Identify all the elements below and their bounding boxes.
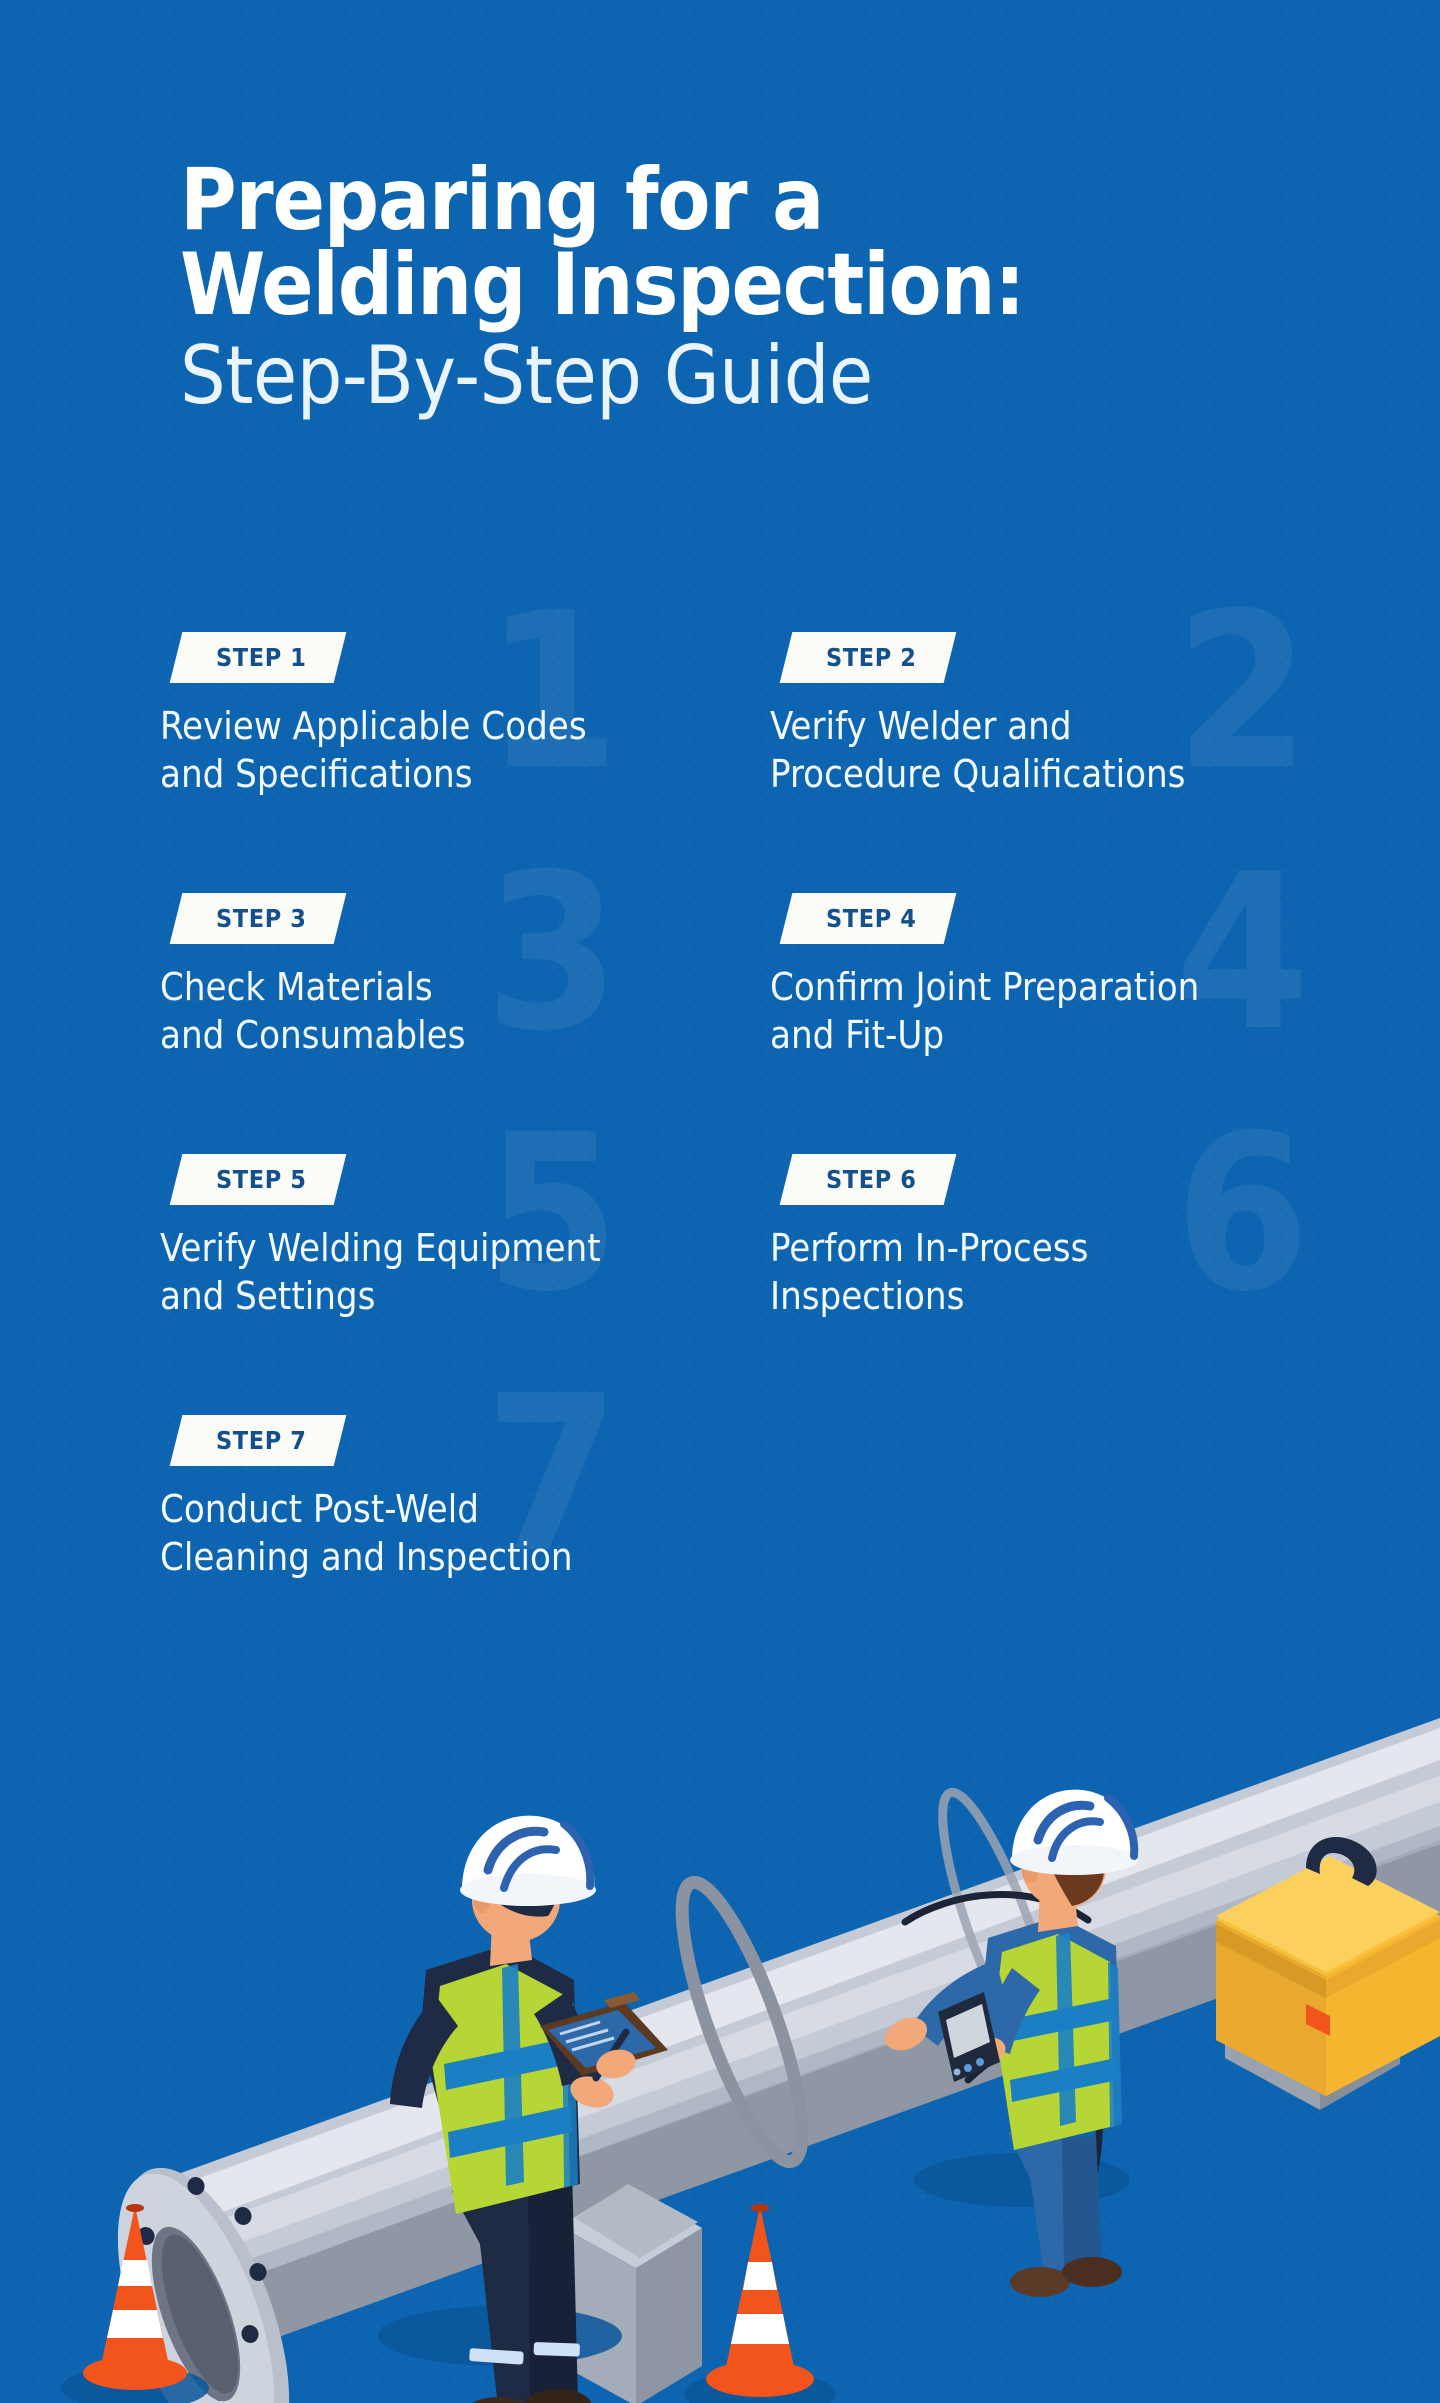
step-text-2: Verify Welder and Procedure Qualificatio… [770, 703, 1310, 798]
step-badge-label-1: STEP 1 [216, 643, 306, 672]
step-item-3: 3 STEP 3 Check Materials and Consumables [150, 893, 760, 1059]
step-badge-label-3: STEP 3 [216, 904, 306, 933]
step-badge-3: STEP 3 [170, 893, 347, 944]
traffic-cone-center [684, 2204, 836, 2403]
step-item-6: 6 STEP 6 Perform In-Process Inspections [760, 1154, 1310, 1320]
left-worker-vest [432, 1964, 570, 2214]
step-text-5: Verify Welding Equipment and Settings [160, 1225, 760, 1320]
step-item-5: 5 STEP 5 Verify Welding Equipment and Se… [150, 1154, 760, 1320]
title-line-2: Welding Inspection: [180, 243, 1300, 328]
step-text-6: Perform In-Process Inspections [770, 1225, 1310, 1320]
illustration-pipeline-inspection [0, 1320, 1440, 2403]
step-item-1: 1 STEP 1 Review Applicable Codes and Spe… [150, 632, 760, 798]
right-worker-boot-right [1062, 2257, 1122, 2287]
step-badge-label-5: STEP 5 [216, 1165, 306, 1194]
step-badge-4: STEP 4 [780, 893, 957, 944]
subtitle: Step-By-Step Guide [180, 334, 1300, 419]
step-item-4: 4 STEP 4 Confirm Joint Preparation and F… [760, 893, 1310, 1059]
left-worker-hard-hat [460, 1816, 596, 1906]
step-text-3: Check Materials and Consumables [160, 964, 760, 1059]
left-worker-ankle-band-2 [534, 2342, 580, 2357]
step-badge-5: STEP 5 [170, 1154, 347, 1205]
title-line-1: Preparing for a [180, 158, 1300, 243]
pipe-support-center [560, 2184, 702, 2403]
infographic-poster: Preparing for a Welding Inspection: Step… [0, 0, 1440, 2403]
step-badge-label-2: STEP 2 [826, 643, 916, 672]
right-worker-hard-hat [1010, 1790, 1138, 1875]
step-badge-label-4: STEP 4 [826, 904, 916, 933]
step-item-2: 2 STEP 2 Verify Welder and Procedure Qua… [760, 632, 1310, 798]
right-worker-boot-left [1010, 2267, 1070, 2297]
step-badge-label-6: STEP 6 [826, 1165, 916, 1194]
step-text-1: Review Applicable Codes and Specificatio… [160, 703, 760, 798]
step-badge-6: STEP 6 [780, 1154, 957, 1205]
step-badge-1: STEP 1 [170, 632, 347, 683]
page-title: Preparing for a Welding Inspection: Step… [180, 158, 1300, 419]
step-text-4: Confirm Joint Preparation and Fit-Up [770, 964, 1310, 1059]
step-badge-2: STEP 2 [780, 632, 957, 683]
